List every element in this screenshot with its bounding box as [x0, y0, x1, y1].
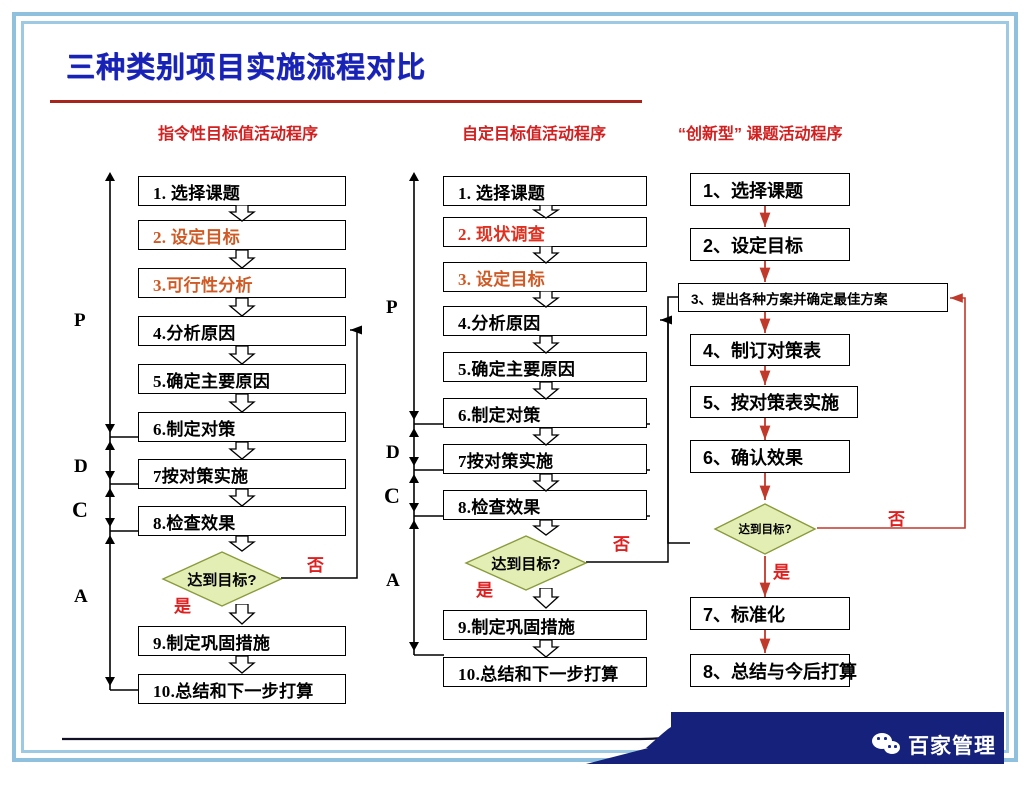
col1-arrow-8-decision — [228, 536, 256, 552]
col2-step-1[interactable]: 1. 选择课题 — [443, 176, 647, 206]
col3-step-4[interactable]: 4、制订对策表 — [690, 334, 850, 366]
title-divider — [50, 100, 642, 103]
col1-step-9[interactable]: 9.制定巩固措施 — [138, 626, 346, 656]
column-header-1: 指令性目标值活动程序 — [108, 124, 368, 145]
col2-step-4[interactable]: 4.分析原因 — [443, 306, 647, 336]
col2-step-5[interactable]: 5.确定主要原因 — [443, 352, 647, 382]
col2-pdca-a: A — [386, 570, 400, 592]
col3-step-1[interactable]: 1、选择课题 — [690, 173, 850, 206]
col3-step-8[interactable]: 8、总结与今后打算 — [690, 654, 850, 687]
col2-arrow-5-6 — [532, 382, 560, 400]
col2-arrow-9-10 — [532, 640, 560, 658]
wechat-icon — [872, 733, 902, 757]
col2-step-9[interactable]: 9.制定巩固措施 — [443, 610, 647, 640]
col1-arrow-3-4 — [228, 298, 256, 317]
col2-pdca-d: D — [386, 442, 400, 464]
slide-canvas: 三种类别项目实施流程对比 指令性目标值活动程序 自定目标值活动程序 “创新型” … — [0, 0, 1030, 790]
col2-pdca-p: P — [386, 297, 398, 319]
col2-step-6[interactable]: 6.制定对策 — [443, 398, 647, 428]
col2-arrow-decision-9 — [532, 588, 560, 609]
col1-arrow-6-7 — [228, 442, 256, 460]
col2-arrow-6-7 — [532, 428, 560, 446]
col1-arrow-9-10 — [228, 656, 256, 674]
col2-arrow-4-5 — [532, 336, 560, 354]
col1-step-5[interactable]: 5.确定主要原因 — [138, 364, 346, 394]
col1-no-label: 否 — [307, 551, 324, 576]
col1-pdca-a: A — [74, 586, 88, 608]
col1-arrow-1-2 — [228, 205, 256, 222]
col2-yes-label: 是 — [476, 576, 493, 601]
col1-pdca-p: P — [74, 310, 86, 332]
col1-yes-label: 是 — [174, 592, 191, 617]
col1-arrow-5-6 — [228, 394, 256, 413]
col2-arrow-3-4 — [532, 291, 560, 308]
col1-step-1[interactable]: 1. 选择课题 — [138, 176, 346, 206]
col2-step-8[interactable]: 8.检查效果 — [443, 490, 647, 520]
col3-decision-diamond[interactable]: 达到目标? — [713, 503, 817, 555]
col2-arrow-1-2 — [532, 205, 560, 219]
column-header-2: 自定目标值活动程序 — [414, 124, 654, 145]
col1-arrow-7-8 — [228, 489, 256, 507]
col1-step-6[interactable]: 6.制定对策 — [138, 412, 346, 442]
col3-step-3[interactable]: 3、提出各种方案并确定最佳方案 — [678, 283, 948, 312]
col1-arrow-decision-9 — [228, 604, 256, 625]
col1-arrow-2-3 — [228, 250, 256, 269]
col3-step-6[interactable]: 6、确认效果 — [690, 440, 850, 473]
col3-step-5[interactable]: 5、按对策表实施 — [690, 386, 858, 418]
col1-arrow-4-5 — [228, 346, 256, 365]
col1-pdca-d: D — [74, 456, 88, 478]
page-title: 三种类别项目实施流程对比 — [66, 44, 426, 86]
col2-arrow-2-3 — [532, 246, 560, 264]
col1-step-2[interactable]: 2. 设定目标 — [138, 220, 346, 250]
col1-step-8[interactable]: 8.检查效果 — [138, 506, 346, 536]
col2-no-label: 否 — [613, 530, 630, 555]
watermark: 百家管理 — [872, 730, 996, 760]
col2-step-7[interactable]: 7按对策实施 — [443, 444, 647, 474]
col2-arrow-7-8 — [532, 474, 560, 492]
watermark-text: 百家管理 — [908, 730, 996, 760]
col2-step-2[interactable]: 2. 现状调查 — [443, 217, 647, 247]
col3-no-label: 否 — [888, 505, 905, 530]
col3-step-7[interactable]: 7、标准化 — [690, 597, 850, 630]
bottom-banner — [26, 694, 1004, 764]
col1-step-7[interactable]: 7按对策实施 — [138, 459, 346, 489]
col2-step-3[interactable]: 3. 设定目标 — [443, 262, 647, 292]
col3-step-2[interactable]: 2、设定目标 — [690, 228, 850, 261]
col2-arrow-8-decision — [532, 520, 560, 536]
column-header-3: “创新型” 课题活动程序 — [678, 124, 928, 145]
col1-step-4[interactable]: 4.分析原因 — [138, 316, 346, 346]
col1-step-3[interactable]: 3.可行性分析 — [138, 268, 346, 298]
col1-pdca-c: C — [72, 497, 88, 523]
col2-pdca-c: C — [384, 483, 400, 509]
col3-yes-label: 是 — [773, 558, 790, 583]
col2-step-10[interactable]: 10.总结和下一步打算 — [443, 657, 647, 687]
